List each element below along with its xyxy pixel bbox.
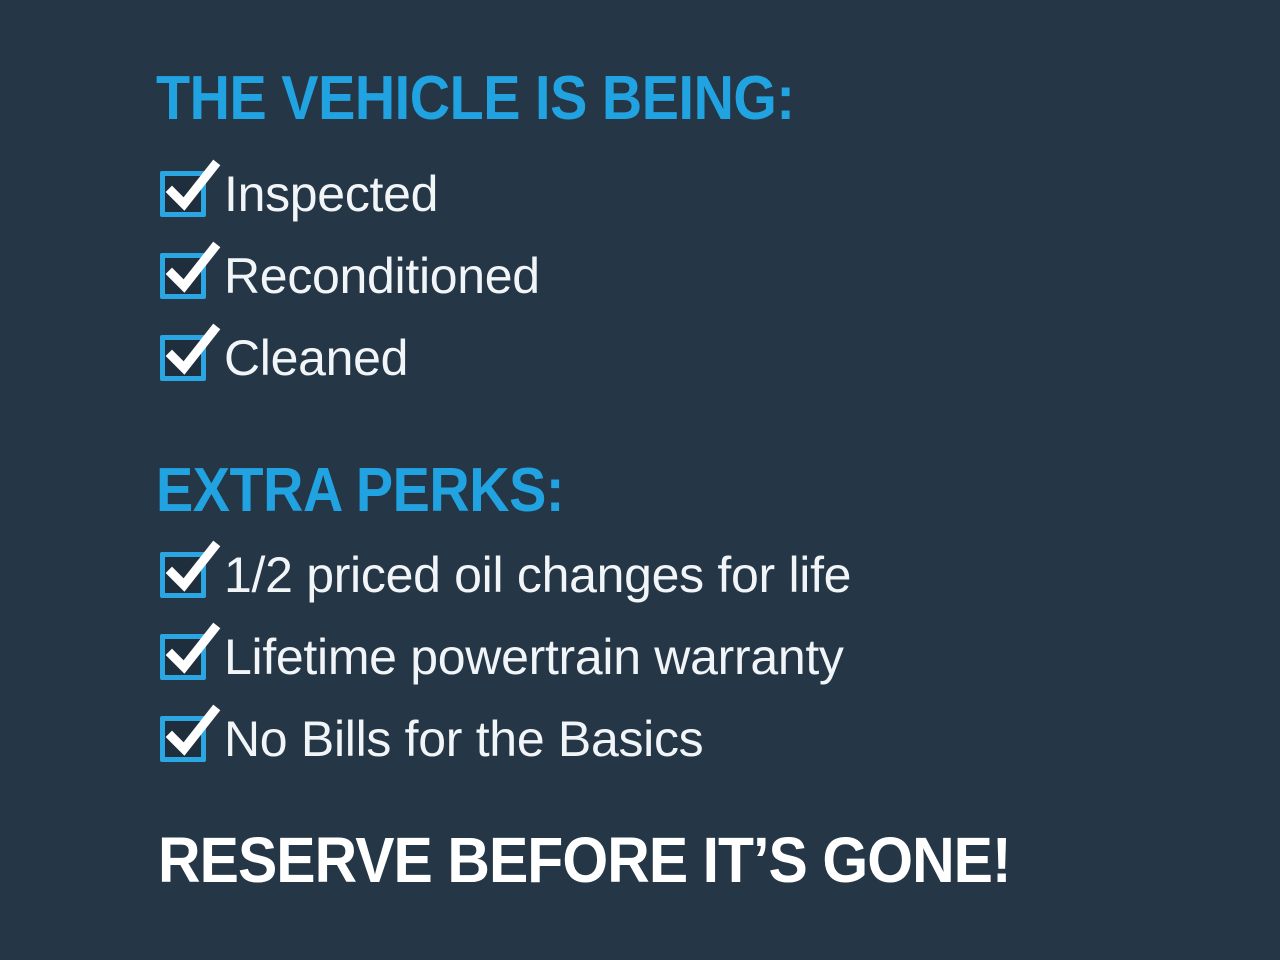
- checklist-item-label: Cleaned: [224, 330, 408, 386]
- promo-poster: THE VEHICLE IS BEING: Inspected Recondit…: [0, 0, 1280, 960]
- checkbox-checked-icon: [160, 552, 206, 598]
- footer-cta-text: RESERVE BEFORE IT’S GONE!: [158, 828, 1011, 892]
- checklist-item-label: Reconditioned: [224, 248, 540, 304]
- checkbox-checked-icon: [160, 634, 206, 680]
- checkbox-checked-icon: [160, 716, 206, 762]
- checklist-item: Lifetime powertrain warranty: [160, 629, 851, 711]
- checklist-vehicle: Inspected Reconditioned Cleaned: [160, 166, 540, 412]
- checklist-item-label: 1/2 priced oil changes for life: [224, 547, 851, 603]
- checkbox-checked-icon: [160, 171, 206, 217]
- checklist-item: 1/2 priced oil changes for life: [160, 547, 851, 629]
- checklist-item: Reconditioned: [160, 248, 540, 330]
- checklist-item-label: No Bills for the Basics: [224, 711, 703, 767]
- checkbox-checked-icon: [160, 253, 206, 299]
- checklist-item-label: Lifetime powertrain warranty: [224, 629, 844, 685]
- section-heading-vehicle: THE VEHICLE IS BEING:: [156, 68, 795, 130]
- checklist-perks: 1/2 priced oil changes for life Lifetime…: [160, 547, 851, 793]
- section-heading-perks: EXTRA PERKS:: [156, 460, 564, 522]
- checklist-item: Cleaned: [160, 330, 540, 412]
- checklist-item-label: Inspected: [224, 166, 438, 222]
- checklist-item: Inspected: [160, 166, 540, 248]
- checklist-item: No Bills for the Basics: [160, 711, 851, 793]
- checkbox-checked-icon: [160, 335, 206, 381]
